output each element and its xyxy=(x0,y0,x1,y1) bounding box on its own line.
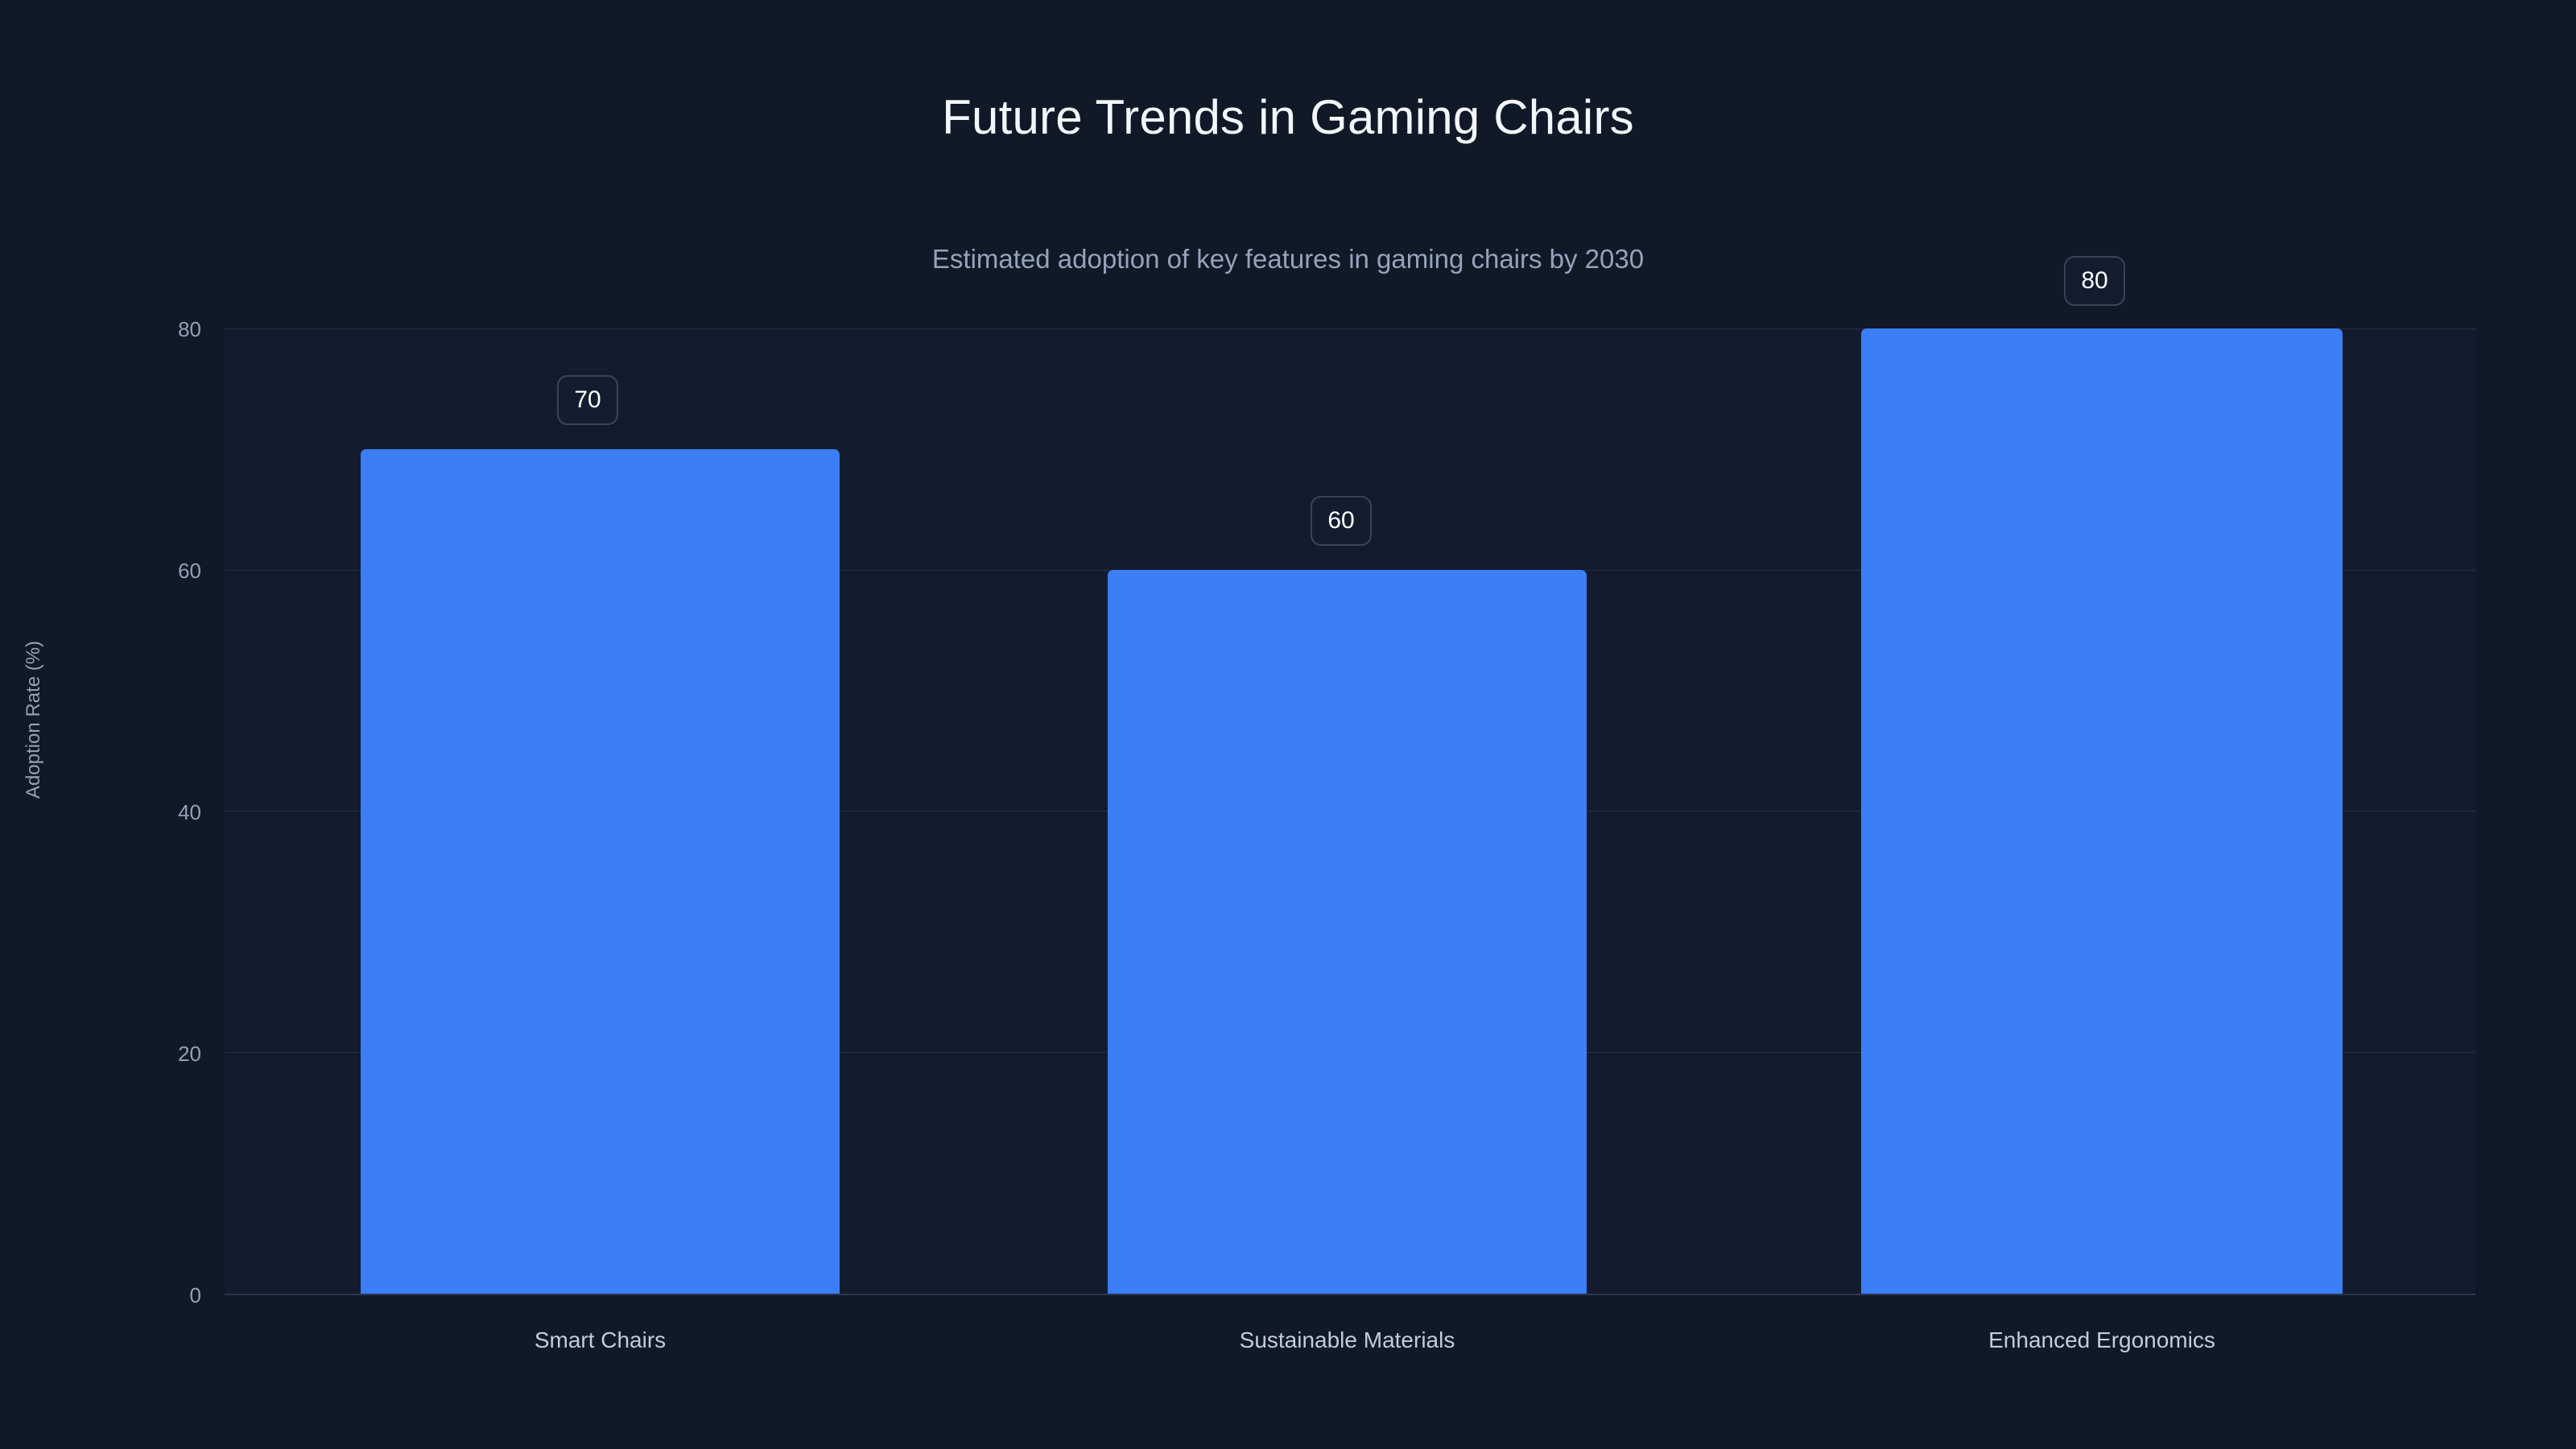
y-tick-label-80: 80 xyxy=(151,319,201,340)
value-badge-sustainable-materials: 60 xyxy=(1311,496,1372,546)
x-tick-label-smart-chairs: Smart Chairs xyxy=(361,1327,840,1354)
value-badge-smart-chairs: 70 xyxy=(557,375,618,425)
value-badge-enhanced-ergonomics: 80 xyxy=(2064,256,2125,306)
y-tick-label-60: 60 xyxy=(151,560,201,581)
bar-chart: Future Trends in Gaming Chairs Estimated… xyxy=(0,0,2576,1449)
y-tick-label-20: 20 xyxy=(151,1043,201,1064)
y-tick-label-0: 0 xyxy=(151,1285,201,1306)
plot-area xyxy=(225,328,2475,1294)
bar-sustainable-materials[interactable] xyxy=(1108,570,1587,1294)
x-axis-line xyxy=(225,1294,2475,1295)
bar-smart-chairs[interactable] xyxy=(361,449,840,1294)
y-axis-title: Adoption Rate (%) xyxy=(24,631,43,808)
x-tick-label-enhanced-ergonomics: Enhanced Ergonomics xyxy=(1861,1327,2343,1354)
chart-subtitle: Estimated adoption of key features in ga… xyxy=(0,243,2576,275)
y-tick-label-40: 40 xyxy=(151,802,201,823)
x-tick-label-sustainable-materials: Sustainable Materials xyxy=(1108,1327,1587,1354)
chart-title: Future Trends in Gaming Chairs xyxy=(0,89,2576,147)
bar-enhanced-ergonomics[interactable] xyxy=(1861,328,2343,1294)
